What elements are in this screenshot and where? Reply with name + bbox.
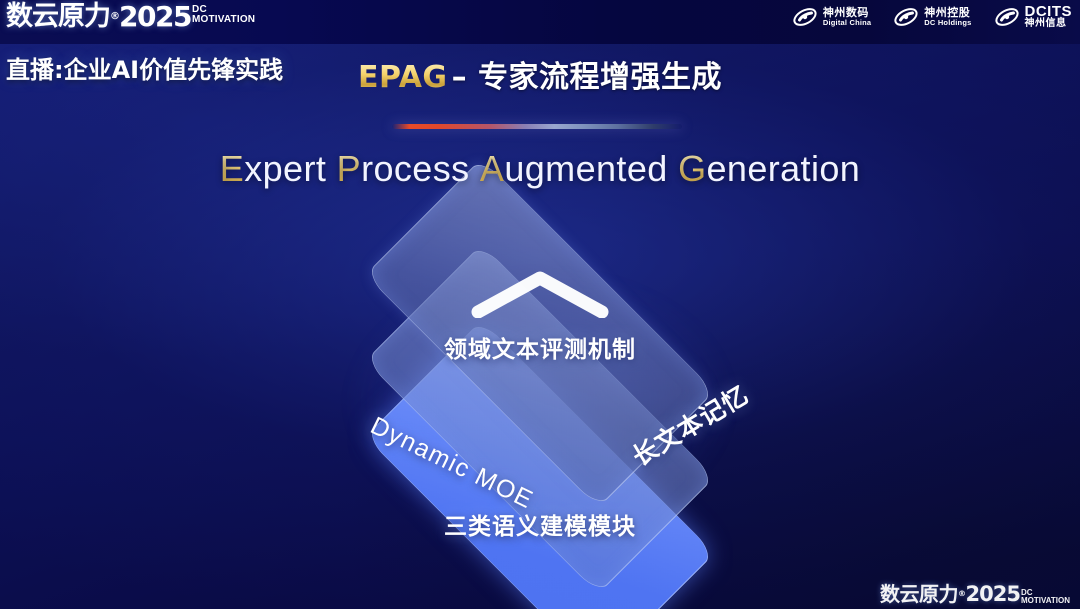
swirl-logo-icon <box>792 4 818 30</box>
partner-logo-text: DCITS 神州信息 <box>1025 4 1073 30</box>
watermark-registered-mark: ® <box>958 583 966 605</box>
partner-logo-group: 神州数码 Digital China 神州控股 DC Holdings <box>792 4 1072 30</box>
watermark-year: 2025 <box>966 583 1020 605</box>
partner-logo-text: 神州控股 DC Holdings <box>924 7 971 26</box>
chevron-up-icon <box>468 270 612 318</box>
subtitle-rest: ugmented <box>504 148 667 189</box>
gradient-divider <box>392 124 682 129</box>
partner-name-en: DC Holdings <box>924 19 971 27</box>
brand-dc-line2: MOTIVATION <box>192 15 255 25</box>
subtitle-word-expert: Expert <box>220 148 326 189</box>
page-subtitle: Expert Process Augmented Generation <box>0 148 1080 190</box>
subtitle-word-process: Process <box>337 148 470 189</box>
brand-registered-mark: ® <box>110 2 119 32</box>
swirl-logo-icon <box>893 4 919 30</box>
subtitle-rest: eneration <box>706 148 860 189</box>
brand-year: 2025 <box>119 2 191 32</box>
subtitle-word-generation: Generation <box>678 148 860 189</box>
stack-layer-top-label: 领域文本评测机制 <box>0 330 1080 364</box>
subtitle-rest: rocess <box>361 148 469 189</box>
partner-name-en: DCITS <box>1025 4 1073 19</box>
subtitle-space <box>326 148 336 189</box>
subtitle-space <box>668 148 678 189</box>
brand-dc-motivation: DC MOTIVATION <box>192 5 255 25</box>
partner-logo-text: 神州数码 Digital China <box>823 7 871 26</box>
subtitle-cap: G <box>678 148 706 189</box>
partner-logo-dcits: DCITS 神州信息 <box>994 4 1073 30</box>
subtitle-cap: P <box>337 148 361 189</box>
slide-canvas: 数云原力 ® 2025 DC MOTIVATION 直播:企业AI价值先锋实践 … <box>0 0 1080 609</box>
partner-logo-digital-china: 神州数码 Digital China <box>792 4 871 30</box>
stack-layer-bottom-label: 三类语义建模模块 <box>0 507 1080 541</box>
partner-name-en: Digital China <box>823 19 871 27</box>
subtitle-rest: xpert <box>244 148 326 189</box>
swirl-logo-icon <box>994 4 1020 30</box>
brand-name-cn: 数云原力 <box>6 2 110 32</box>
page-title-rest: – 专家流程增强生成 <box>452 60 722 95</box>
partner-logo-dc-holdings: 神州控股 DC Holdings <box>893 4 971 30</box>
brand-logo: 数云原力 ® 2025 DC MOTIVATION <box>6 2 255 32</box>
partner-name-cn: 神州信息 <box>1025 19 1073 30</box>
page-title-accent: EPAG <box>358 60 452 95</box>
subtitle-space <box>470 148 480 189</box>
subtitle-cap: E <box>220 148 244 189</box>
layered-stack-diagram: 领域文本评测机制 Dynamic MOE 长文本记忆 三类语义建模模块 <box>0 212 1080 592</box>
footer-watermark: 数云原力 ® 2025 DC MOTIVATION <box>880 583 1070 605</box>
live-banner-text: 直播:企业AI价值先锋实践 <box>6 50 283 85</box>
subtitle-cap: A <box>480 148 504 189</box>
watermark-dc-motivation: DC MOTIVATION <box>1021 589 1070 605</box>
watermark-name-cn: 数云原力 <box>880 583 958 605</box>
watermark-dc-line2: MOTIVATION <box>1021 597 1070 605</box>
subtitle-word-augmented: Augmented <box>480 148 668 189</box>
